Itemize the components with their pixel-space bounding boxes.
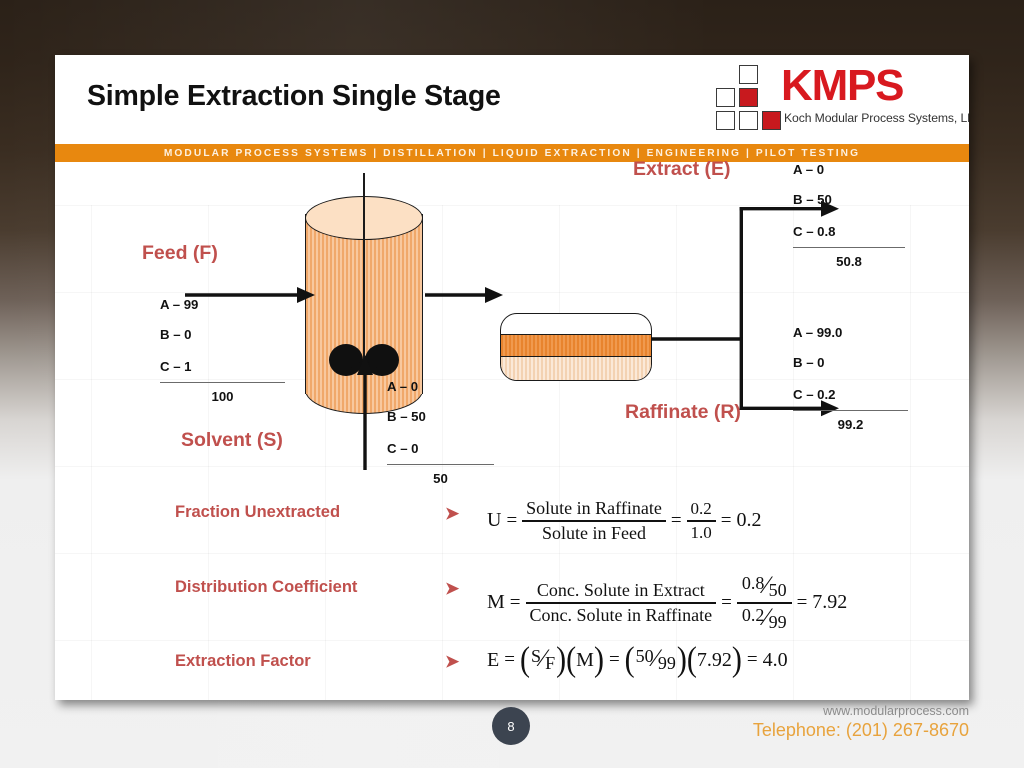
formula-label-extraction-factor: Extraction Factor <box>175 652 311 671</box>
eq3-value1-top: 50 <box>636 646 654 667</box>
eq3-value2: 7.92 <box>697 649 732 672</box>
logo-square-r2c1 <box>716 88 735 107</box>
eq1-equals-2: = <box>666 510 687 532</box>
raffinate-component-c: C – 0.2 <box>793 380 908 411</box>
solvent-component-a: A – 0 <box>387 372 494 402</box>
footer-website[interactable]: www.modularprocess.com <box>823 704 969 718</box>
eq2-denominator-top: 0.2 <box>742 605 765 626</box>
formula-label-distribution-coefficient: Distribution Coefficient <box>175 578 357 597</box>
eq2-value-compound-fraction: 0.8 ⁄ 50 0.2 ⁄ 99 <box>737 573 792 633</box>
raffinate-component-a: A – 99.0 <box>793 318 908 348</box>
eq1-expression-fraction: Solute in Raffinate Solute in Feed <box>522 498 666 544</box>
eq2-result: 7.92 <box>812 591 847 614</box>
eq1-symbol: U <box>487 509 501 532</box>
equation-extraction-factor: E = ( S ⁄ F ) ( M ) = ( 50 ⁄ 99 ) ( 7.92… <box>487 643 788 677</box>
raffinate-label: Raffinate (R) <box>625 401 741 424</box>
eq3-paren-open-4: ( <box>687 640 697 679</box>
formula-label-fraction-unextracted: Fraction Unextracted <box>175 503 340 522</box>
eq3-equals-2: = <box>604 649 625 671</box>
extract-component-b: B – 50 <box>793 185 905 215</box>
settler-vessel <box>500 313 652 381</box>
eq1-value-numerator: 0.2 <box>687 499 716 520</box>
logo-wordmark: KMPS <box>781 61 903 111</box>
solvent-component-c: C – 0 <box>387 434 494 465</box>
eq1-equals-1: = <box>501 510 522 532</box>
eq3-term1-top: S <box>531 646 541 667</box>
settler-shell <box>500 313 652 381</box>
eq3-symbol: E <box>487 649 499 672</box>
formula-bullet-2: ➤ <box>445 579 459 599</box>
logo-square-r3c3 <box>762 111 781 130</box>
eq3-paren-open-3: ( <box>625 640 635 679</box>
eq2-value-numerator: 0.8 ⁄ 50 <box>737 573 792 602</box>
eq1-numerator: Solute in Raffinate <box>522 498 666 520</box>
eq1-value-denominator: 1.0 <box>687 522 716 543</box>
settler-extract-layer <box>501 334 652 357</box>
eq1-equals-3: = <box>716 510 737 532</box>
page-number: 8 <box>507 719 514 734</box>
logo-tagline: Koch Modular Process Systems, LLC. <box>784 111 969 125</box>
formula-bullet-3: ➤ <box>445 652 459 672</box>
extract-composition: A – 0 B – 50 C – 0.8 50.8 <box>793 155 905 276</box>
feed-composition: A – 99 B – 0 C – 1 100 <box>160 290 285 411</box>
eq2-numerator: Conc. Solute in Extract <box>533 580 709 602</box>
eq3-paren-close-4: ) <box>732 640 742 679</box>
agitator-shaft <box>363 173 365 365</box>
eq2-numerator-top: 0.8 <box>742 573 765 594</box>
solvent-arrow <box>355 355 375 470</box>
settler-raffinate-layer <box>501 357 652 381</box>
footer-telephone: Telephone: (201) 267-8670 <box>753 720 969 741</box>
eq3-paren-close-1: ) <box>556 640 566 679</box>
raffinate-component-b: B – 0 <box>793 348 908 378</box>
logo-square-r2c2 <box>739 88 758 107</box>
feed-component-b: B – 0 <box>160 320 285 350</box>
eq2-denominator-slash: ⁄ <box>764 604 768 632</box>
equation-fraction-unextracted: U = Solute in Raffinate Solute in Feed =… <box>487 498 762 544</box>
eq2-denominator-diagonal: 0.2 ⁄ 99 <box>741 605 788 633</box>
eq2-equals-2: = <box>716 592 737 614</box>
slide-canvas: Simple Extraction Single Stage KMPS Koch… <box>55 55 969 700</box>
eq3-term2: M <box>576 649 594 672</box>
extract-total: 50.8 <box>793 248 905 276</box>
eq3-paren-open-2: ( <box>566 640 576 679</box>
kmps-logo: KMPS Koch Modular Process Systems, LLC. <box>693 61 963 139</box>
eq2-equals-3: = <box>792 592 813 614</box>
eq2-numerator-bottom: 50 <box>769 580 787 601</box>
page-number-badge: 8 <box>492 707 530 745</box>
logo-square-r3c1 <box>716 111 735 130</box>
extract-label: Extract (E) <box>633 158 731 181</box>
feed-component-c: C – 1 <box>160 352 285 383</box>
eq2-numerator-diagonal: 0.8 ⁄ 50 <box>741 573 788 601</box>
eq3-equals-3: = <box>742 649 763 671</box>
eq2-equals-1: = <box>505 592 526 614</box>
feed-total: 100 <box>160 383 285 411</box>
eq1-result: 0.2 <box>737 509 762 532</box>
solvent-composition: A – 0 B – 50 C – 0 50 <box>387 372 494 493</box>
feed-label: Feed (F) <box>142 242 218 265</box>
eq3-paren-close-2: ) <box>594 640 604 679</box>
eq1-value-fraction: 0.2 1.0 <box>687 499 716 543</box>
eq2-symbol: M <box>487 591 505 614</box>
extract-component-a: A – 0 <box>793 155 905 185</box>
eq2-denominator-bottom: 99 <box>769 612 787 633</box>
eq3-value1-diagonal: 50 ⁄ 99 <box>635 646 677 674</box>
eq2-numerator-slash: ⁄ <box>764 572 768 600</box>
raffinate-composition: A – 99.0 B – 0 C – 0.2 99.2 <box>793 318 908 439</box>
solvent-total: 50 <box>387 465 494 493</box>
eq1-denominator: Solute in Feed <box>538 522 650 544</box>
solvent-component-b: B – 50 <box>387 402 494 432</box>
mixer-to-settler-arrow <box>425 285 503 305</box>
logo-square-r1c2 <box>739 65 758 84</box>
services-banner-text: MODULAR PROCESS SYSTEMS | DISTILLATION |… <box>164 148 860 159</box>
equation-distribution-coefficient: M = Conc. Solute in Extract Conc. Solute… <box>487 573 847 633</box>
extract-component-c: C – 0.8 <box>793 217 905 248</box>
page-title: Simple Extraction Single Stage <box>87 80 501 113</box>
solvent-label: Solvent (S) <box>181 429 283 452</box>
eq3-value1-bottom: 99 <box>658 653 676 674</box>
eq2-value-denominator: 0.2 ⁄ 99 <box>737 604 792 633</box>
eq3-term1-slash: ⁄ <box>541 645 545 673</box>
eq3-equals-1: = <box>499 649 520 671</box>
eq3-term1-bottom: F <box>545 653 555 674</box>
eq3-term1-diagonal: S ⁄ F <box>530 646 556 674</box>
raffinate-total: 99.2 <box>793 411 908 439</box>
eq3-value1-slash: ⁄ <box>654 645 658 673</box>
eq2-expression-fraction: Conc. Solute in Extract Conc. Solute in … <box>526 580 717 626</box>
feed-component-a: A – 99 <box>160 290 285 320</box>
formula-bullet-1: ➤ <box>445 504 459 524</box>
eq3-paren-close-3: ) <box>677 640 687 679</box>
logo-square-r3c2 <box>739 111 758 130</box>
eq3-result: 4.0 <box>763 649 788 672</box>
eq3-paren-open-1: ( <box>520 640 530 679</box>
eq2-denominator: Conc. Solute in Raffinate <box>526 604 717 626</box>
